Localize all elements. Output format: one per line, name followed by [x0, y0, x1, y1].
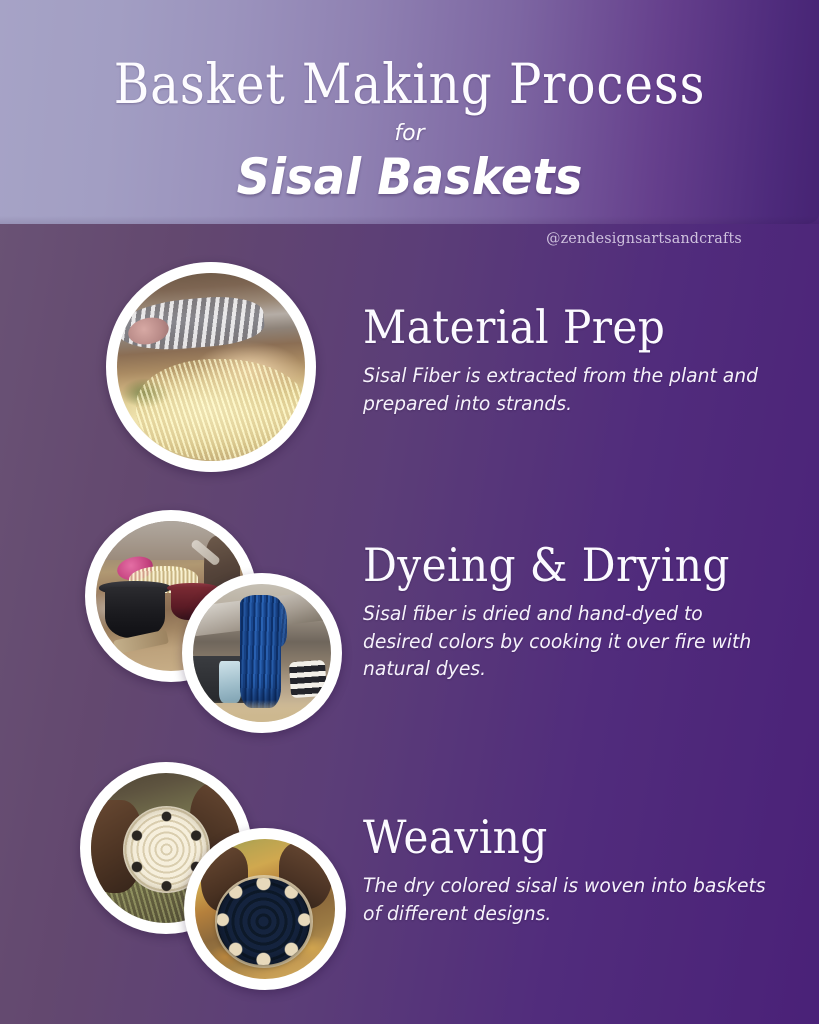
title-connector: for: [0, 121, 819, 146]
photo-blue-fiber-image: [193, 584, 331, 722]
page-subtitle: Sisal Baskets: [29, 148, 791, 206]
photo-sisal-fiber: [106, 262, 316, 472]
step-dyeing-drying: Dyeing & Drying Sisal fiber is dried and…: [0, 508, 819, 738]
photo-weaving-navy-image: [195, 839, 335, 979]
step-1-heading: Material Prep: [363, 304, 749, 352]
step-2-heading: Dyeing & Drying: [363, 542, 749, 590]
step-2-text: Dyeing & Drying Sisal fiber is dried and…: [363, 542, 783, 683]
photo-sisal-fiber-image: [117, 273, 305, 461]
step-1-body: Sisal Fiber is extracted from the plant …: [363, 362, 766, 417]
social-handle: @zendesignsartsandcrafts: [546, 229, 742, 247]
photo-weaving-navy: [184, 828, 346, 990]
step-2-body: Sisal fiber is dried and hand-dyed to de…: [363, 600, 766, 683]
step-3-body: The dry colored sisal is woven into bask…: [363, 872, 766, 927]
infographic-poster: Basket Making Process for Sisal Baskets …: [0, 0, 819, 1024]
step-material-prep: Material Prep Sisal Fiber is extracted f…: [0, 262, 819, 492]
step-1-text: Material Prep Sisal Fiber is extracted f…: [363, 304, 783, 417]
step-weaving: Weaving The dry colored sisal is woven i…: [0, 762, 819, 992]
page-title: Basket Making Process: [49, 52, 770, 116]
step-3-text: Weaving The dry colored sisal is woven i…: [363, 814, 783, 927]
photo-blue-fiber: [182, 573, 342, 733]
step-3-heading: Weaving: [363, 814, 749, 862]
